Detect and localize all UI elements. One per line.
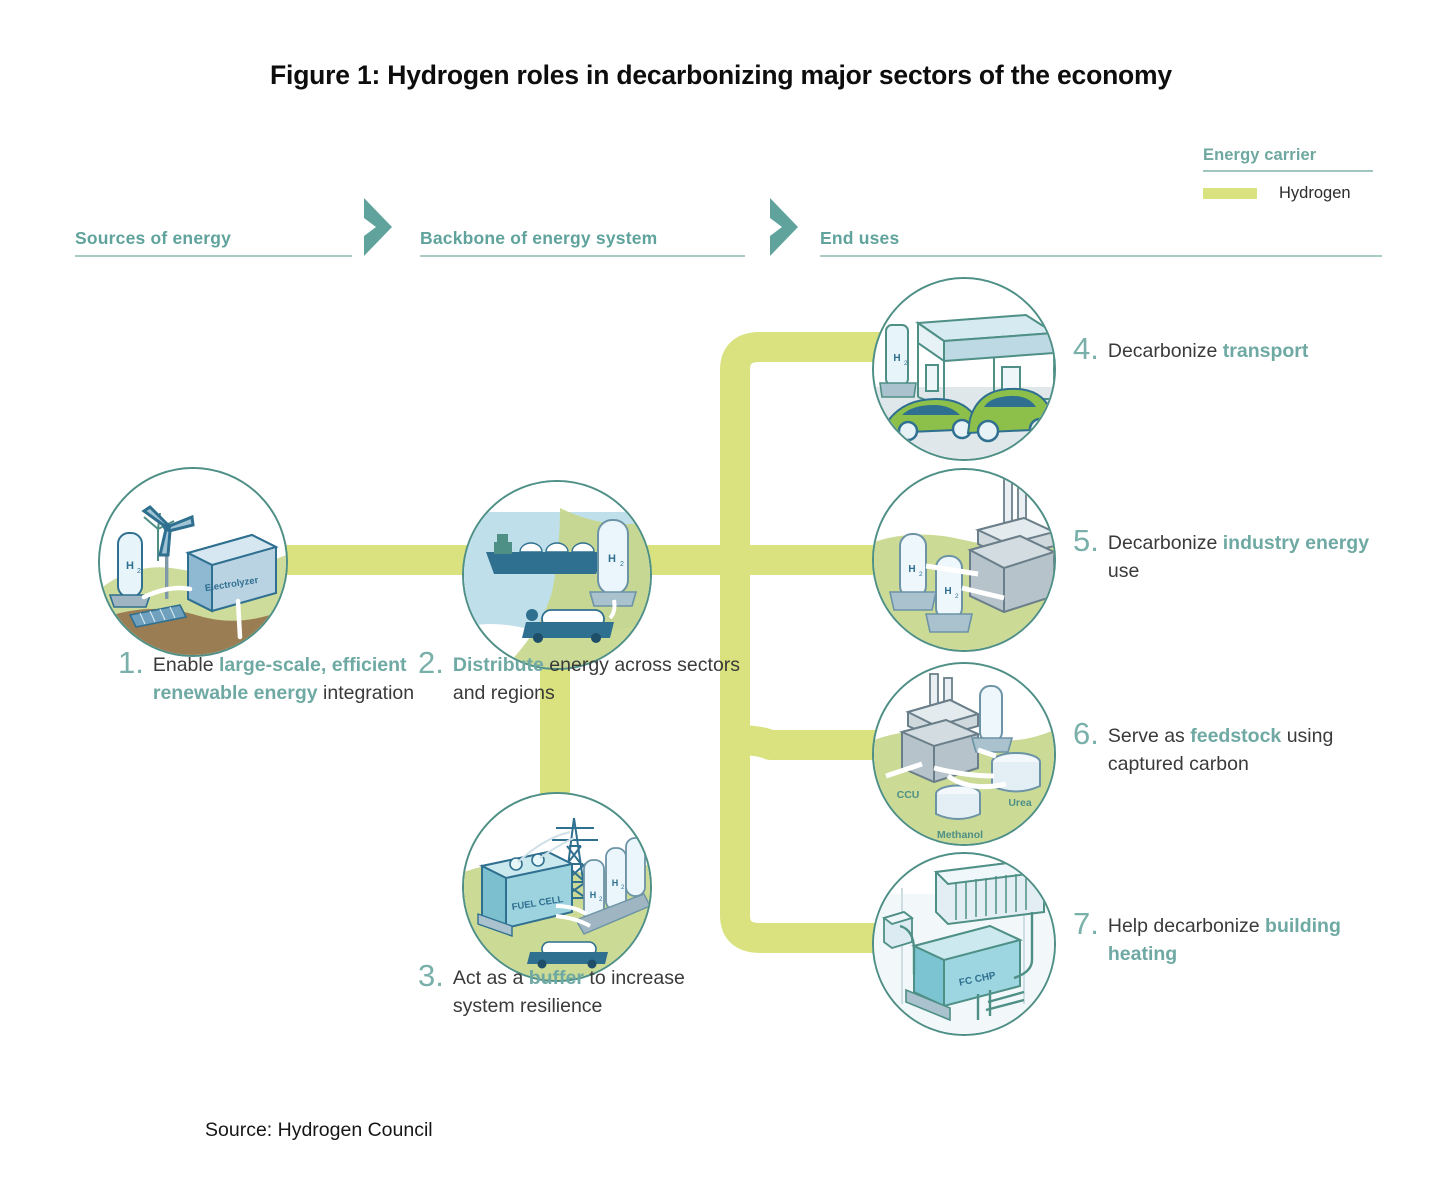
illustration-industry-energy: H 2 H 2 — [872, 468, 1056, 652]
step-caption-3: 3. Act as a buffer to increase system re… — [418, 965, 748, 1020]
step-caption-4: 4. Decarbonize transport — [1073, 338, 1373, 366]
step-label: Decarbonize transport — [1108, 338, 1309, 366]
svg-text:H: H — [590, 890, 597, 900]
svg-text:H: H — [908, 564, 915, 575]
step-caption-1: 1. Enable large-scale, efficient renewab… — [118, 652, 418, 707]
svg-text:2: 2 — [904, 360, 908, 367]
illustration-building-heating-fc-chp: FC CHP — [872, 852, 1056, 1036]
step-label: Serve as feedstock using captured carbon — [1108, 723, 1383, 778]
label-methanol: Methanol — [937, 829, 983, 841]
step-caption-5: 5. Decarbonize industry energy use — [1073, 530, 1383, 585]
figure-root: Figure 1: Hydrogen roles in decarbonizin… — [0, 0, 1442, 1200]
illustration-transport-refueling: H 2 — [872, 277, 1056, 461]
step-number: 7. — [1073, 908, 1099, 939]
svg-text:2: 2 — [955, 593, 959, 600]
svg-text:H: H — [126, 560, 134, 572]
step-caption-7: 7. Help decarbonize building heating — [1073, 913, 1373, 968]
step-label: Decarbonize industry energy use — [1108, 530, 1383, 585]
label-ccu: CCU — [897, 789, 920, 801]
svg-text:H: H — [612, 878, 619, 888]
step-caption-2: 2. Distribute energy across sectors and … — [418, 652, 748, 707]
step-number: 6. — [1073, 718, 1099, 749]
illustration-buffer-fuel-cell: FUEL CELL H 2 H 2 — [462, 792, 652, 982]
step-number: 1. — [118, 647, 144, 678]
svg-text:2: 2 — [620, 561, 624, 568]
svg-text:H: H — [944, 586, 951, 597]
svg-text:2: 2 — [137, 568, 141, 575]
label-urea: Urea — [1008, 797, 1032, 809]
step-label: Act as a buffer to increase system resil… — [453, 965, 748, 1020]
illustration-feedstock-ccu: CCU Urea Methanol — [872, 662, 1056, 846]
svg-text:2: 2 — [919, 571, 923, 578]
step-number: 2. — [418, 647, 444, 678]
step-number: 4. — [1073, 333, 1099, 364]
illustration-renewable-electrolyzer: H 2 Electrolyzer — [98, 467, 288, 657]
step-label: Enable large-scale, efficient renewable … — [153, 652, 418, 707]
svg-text:H: H — [893, 353, 900, 364]
step-caption-6: 6. Serve as feedstock using captured car… — [1073, 723, 1383, 778]
step-number: 3. — [418, 960, 444, 991]
step-label: Help decarbonize building heating — [1108, 913, 1373, 968]
svg-text:H: H — [608, 553, 616, 565]
illustration-distribution-transport: H 2 — [462, 480, 652, 670]
step-label: Distribute energy across sectors and reg… — [453, 652, 748, 707]
source-note: Source: Hydrogen Council — [205, 1119, 433, 1142]
step-number: 5. — [1073, 525, 1099, 556]
